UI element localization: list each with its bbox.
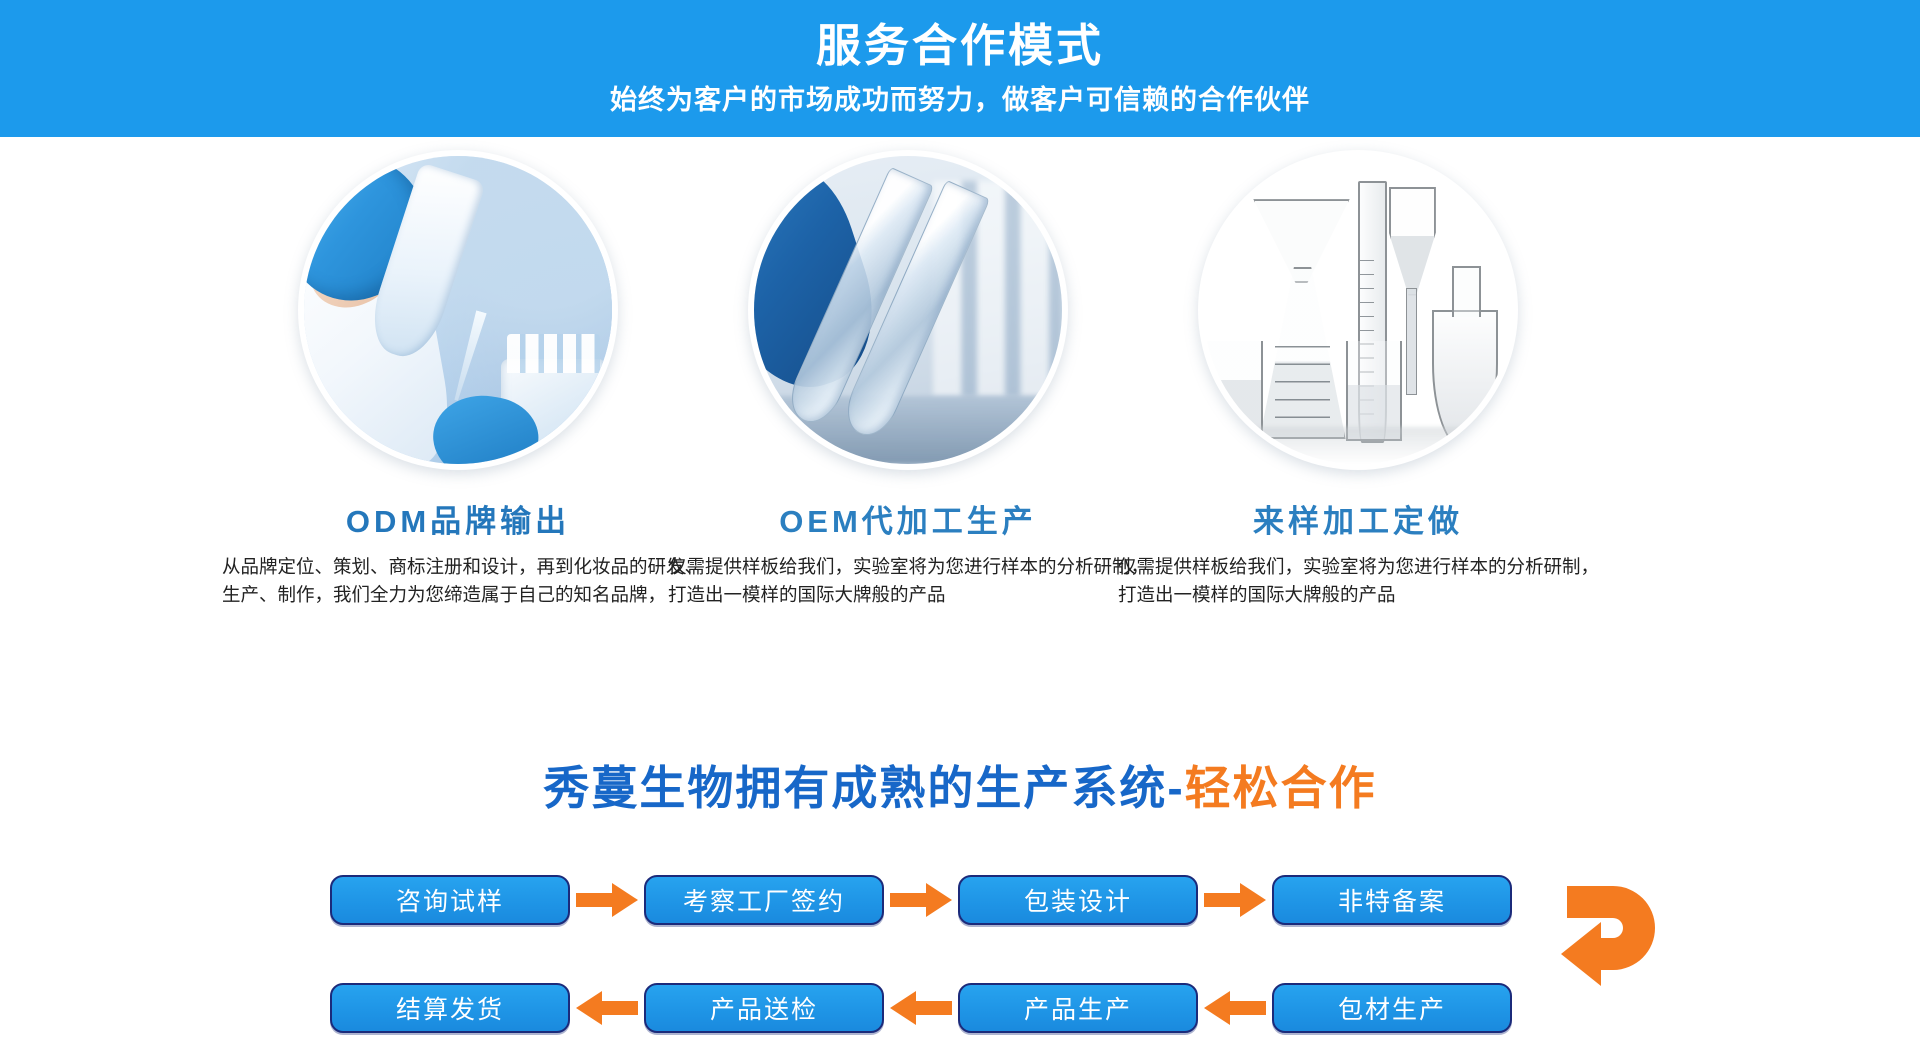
arrow-left-icon bbox=[570, 983, 644, 1033]
card-description-sample: 仅需提供样板给我们，实验室将为您进行样本的分析研制，打造出一模样的国际大牌般的产… bbox=[1098, 553, 1618, 609]
flow-step-packaging-material[interactable]: 包材生产 bbox=[1272, 983, 1512, 1033]
service-card-sample: 来样加工定做 仅需提供样板给我们，实验室将为您进行样本的分析研制，打造出一模样的… bbox=[1098, 150, 1618, 609]
arrow-right-icon bbox=[884, 875, 958, 925]
test-tubes-photo bbox=[754, 156, 1062, 464]
page-header: 服务合作模式 始终为客户的市场成功而努力，做客户可信赖的合作伙伴 bbox=[0, 0, 1920, 137]
flow-step-factory-contract[interactable]: 考察工厂签约 bbox=[644, 875, 884, 925]
service-cards-row: ODM品牌输出 从品牌定位、策划、商标注册和设计，再到化妆品的研发、生产、制作，… bbox=[0, 150, 1920, 710]
flow-step-production[interactable]: 产品生产 bbox=[958, 983, 1198, 1033]
section-heading-blue: 秀蔓生物拥有成熟的生产系统- bbox=[543, 762, 1184, 814]
card-description-odm: 从品牌定位、策划、商标注册和设计，再到化妆品的研发、生产、制作，我们全力为您缔造… bbox=[198, 553, 718, 609]
footer-spacer bbox=[0, 1040, 1920, 1059]
section-heading: 秀蔓生物拥有成熟的生产系统-轻松合作 bbox=[0, 752, 1920, 818]
process-flow-row-2: 结算发货 产品送检 产品生产 包材生产 bbox=[330, 981, 1560, 1035]
flow-step-non-special-filing[interactable]: 非特备案 bbox=[1272, 875, 1512, 925]
section-heading-orange: 轻松合作 bbox=[1185, 762, 1377, 814]
page-title: 服务合作模式 bbox=[816, 20, 1104, 72]
process-flow-diagram: 咨询试样 考察工厂签约 包装设计 非特备案 结算发货 产品送检 bbox=[0, 858, 1920, 1058]
flow-step-settle-ship[interactable]: 结算发货 bbox=[330, 983, 570, 1033]
card-image-frame bbox=[1198, 150, 1518, 470]
flow-step-package-design[interactable]: 包装设计 bbox=[958, 875, 1198, 925]
lab-scientist-pipetting-photo bbox=[304, 156, 612, 464]
card-image-frame bbox=[298, 150, 618, 470]
arrow-right-icon bbox=[1198, 875, 1272, 925]
flow-step-consult-sample[interactable]: 咨询试样 bbox=[330, 875, 570, 925]
arrow-right-icon bbox=[570, 875, 644, 925]
arrow-left-icon bbox=[884, 983, 958, 1033]
laboratory-glassware-photo bbox=[1204, 156, 1512, 464]
card-title-odm: ODM品牌输出 bbox=[198, 496, 718, 541]
flow-step-product-inspection[interactable]: 产品送检 bbox=[644, 983, 884, 1033]
service-card-odm: ODM品牌输出 从品牌定位、策划、商标注册和设计，再到化妆品的研发、生产、制作，… bbox=[198, 150, 718, 609]
card-image-frame bbox=[748, 150, 1068, 470]
service-card-oem: OEM代加工生产 仅需提供样板给我们，实验室将为您进行样本的分析研制，打造出一模… bbox=[648, 150, 1168, 609]
card-title-oem: OEM代加工生产 bbox=[648, 496, 1168, 541]
arrow-left-icon bbox=[1198, 983, 1272, 1033]
u-turn-arrow-icon bbox=[1557, 878, 1667, 1028]
process-flow-row-1: 咨询试样 考察工厂签约 包装设计 非特备案 bbox=[330, 873, 1560, 927]
page-subtitle: 始终为客户的市场成功而努力，做客户可信赖的合作伙伴 bbox=[610, 78, 1310, 117]
card-description-oem: 仅需提供样板给我们，实验室将为您进行样本的分析研制，打造出一模样的国际大牌般的产… bbox=[648, 553, 1168, 609]
card-title-sample: 来样加工定做 bbox=[1098, 496, 1618, 541]
